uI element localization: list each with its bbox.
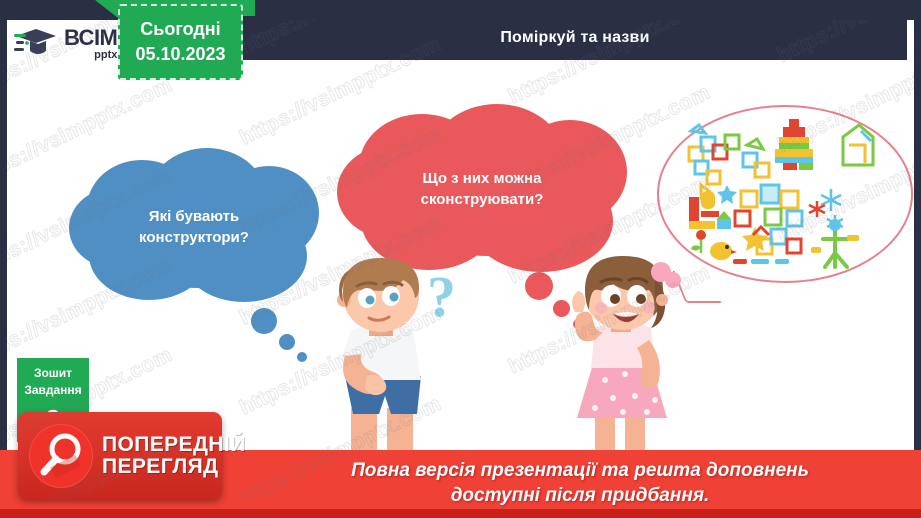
- banner-line-2: доступні після придбання.: [250, 483, 910, 508]
- thinking-boy-illustration: [307, 256, 457, 464]
- logo-name: ВСІМ: [64, 27, 117, 49]
- toys-svg: [675, 119, 895, 269]
- thought-bubble-blue-text: Які бувають конструктори?: [109, 207, 279, 248]
- bubble-dot-medium: [279, 334, 295, 350]
- bubble-dot-small: [297, 352, 307, 362]
- magnifier-icon: [29, 424, 93, 488]
- brand-logo: ВСІМ pptx: [14, 27, 117, 61]
- slide-root: Які бувають конструктори? Що з них можна…: [0, 0, 921, 518]
- header-bar: Поміркуй та назви: [243, 16, 907, 60]
- construction-toys-illustration: [675, 119, 895, 269]
- logo-subtitle: pptx: [94, 50, 117, 61]
- bubble-dot-large: [251, 308, 277, 334]
- preview-badge[interactable]: ПОПЕРЕДНІЙ ПЕРЕГЛЯД: [18, 412, 222, 499]
- banner-bottom-strip: [0, 509, 921, 518]
- notebook-tag-line2: Завдання: [17, 382, 89, 399]
- banner-line-1: Повна версія презентації та решта доповн…: [250, 458, 910, 483]
- graduation-cap-icon: [14, 27, 58, 61]
- date-badge-value: 05.10.2023: [135, 44, 225, 65]
- date-badge-label: Сьогодні: [140, 19, 220, 40]
- thought-bubble-red-text: Що з них можна сконструювати?: [380, 169, 585, 210]
- notebook-tag-line1: Зошит: [17, 365, 89, 382]
- thought-bubble-blue: Які бувають конструктори?: [69, 148, 319, 348]
- preview-badge-line1: ПОПЕРЕДНІЙ: [102, 434, 246, 455]
- page-title: Поміркуй та назви: [500, 29, 649, 47]
- purchase-banner-text: Повна версія презентації та решта доповн…: [250, 458, 910, 508]
- preview-badge-line2: ПЕРЕГЛЯД: [102, 456, 246, 477]
- today-date-badge: Сьогодні 05.10.2023: [118, 4, 243, 80]
- talking-girl-illustration: [537, 256, 697, 466]
